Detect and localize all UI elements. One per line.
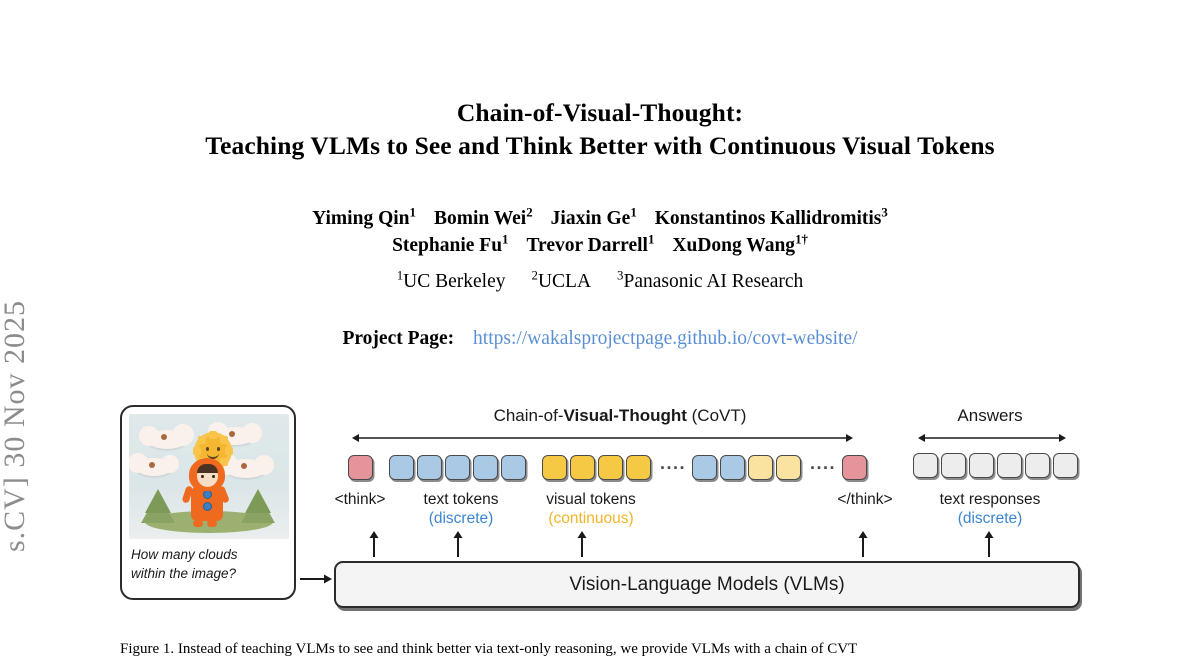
answer-token-sequence <box>913 453 1081 478</box>
text-tokens-label: text tokens <box>400 490 522 509</box>
author-name: Bomin Wei2 <box>434 208 533 229</box>
example-question-caption: How many clouds within the image? <box>129 545 287 583</box>
girl-shoe <box>193 520 203 527</box>
question-line-1: How many clouds <box>131 545 287 564</box>
up-arrow-icon <box>452 531 464 557</box>
token-ellipsis: .... <box>804 453 842 482</box>
text-responses-caption: text responses (discrete) <box>905 490 1075 528</box>
author-name: Stephanie Fu1 <box>392 235 508 256</box>
token-answer <box>997 453 1022 478</box>
pine-tree <box>245 489 271 513</box>
teaser-figure: How many clouds within the image? Vision… <box>0 398 1200 648</box>
example-image-card: How many clouds within the image? <box>120 405 296 600</box>
token-visual-light <box>776 455 801 480</box>
covt-token-sequence: ........ <box>348 453 870 482</box>
covt-span-arrow <box>352 432 853 444</box>
token-endthink <box>842 455 867 480</box>
covt-heading-bold: Visual-Thought <box>564 406 687 425</box>
author-name: Jiaxin Ge1 <box>551 208 637 229</box>
token-text <box>473 455 498 480</box>
author-name: Yiming Qin1 <box>312 208 416 229</box>
page-title: Chain-of-Visual-Thought: Teaching VLMs t… <box>0 0 1200 162</box>
project-page-label: Project Page: <box>342 328 454 349</box>
author-name: Konstantinos Kallidromitis3 <box>655 208 888 229</box>
token-text <box>445 455 470 480</box>
affiliation-marker: 1 <box>397 269 403 283</box>
token-visual <box>570 455 595 480</box>
up-arrow-icon <box>368 531 380 557</box>
girl-shoe <box>207 520 217 527</box>
girl-eye <box>212 475 215 478</box>
up-arrow-icon <box>983 531 995 557</box>
author-affiliation-marker: 3 <box>881 206 887 220</box>
project-page-row: Project Page: https://wakalsprojectpage.… <box>0 328 1200 350</box>
question-line-2: within the image? <box>131 564 287 583</box>
token-text <box>417 455 442 480</box>
author-affiliation-marker: 1 <box>502 233 508 247</box>
end-think-token-caption: </think> <box>810 490 920 509</box>
author-row-2: Stephanie Fu1Trevor Darrell1XuDong Wang1… <box>0 232 1200 259</box>
token-answer <box>913 453 938 478</box>
text-responses-sublabel: (discrete) <box>905 509 1075 528</box>
affiliation-marker: 2 <box>532 269 538 283</box>
token-visual <box>542 455 567 480</box>
answers-span-arrow <box>918 432 1066 444</box>
token-text <box>501 455 526 480</box>
token-text <box>692 455 717 480</box>
text-tokens-caption: text tokens (discrete) <box>400 490 522 528</box>
affiliation-entry: 1UC Berkeley <box>397 271 506 292</box>
token-answer <box>941 453 966 478</box>
coat-button <box>203 502 212 511</box>
up-arrow-icon <box>857 531 869 557</box>
coat-button <box>203 490 212 499</box>
cloud-center-dot <box>149 462 155 468</box>
covt-heading-suffix: (CoVT) <box>687 406 747 425</box>
think-token-caption: <think> <box>310 490 410 509</box>
affiliation-row: 1UC Berkeley2UCLA3Panasonic AI Research <box>0 268 1200 295</box>
cloud-shape <box>147 430 187 449</box>
answers-group-heading: Answers <box>905 406 1075 426</box>
covt-heading-prefix: Chain-of- <box>494 406 564 425</box>
token-visual-light <box>748 455 773 480</box>
affiliation-marker: 3 <box>617 269 623 283</box>
author-name: XuDong Wang1† <box>672 235 808 256</box>
author-row-1: Yiming Qin1Bomin Wei2Jiaxin Ge1Konstanti… <box>0 205 1200 232</box>
text-tokens-sublabel: (discrete) <box>400 509 522 528</box>
affiliation-entry: 2UCLA <box>532 271 592 292</box>
token-answer <box>969 453 994 478</box>
token-ellipsis: .... <box>654 453 692 482</box>
token-visual <box>626 455 651 480</box>
covt-group-heading: Chain-of-Visual-Thought (CoVT) <box>340 406 900 426</box>
paper-header: Chain-of-Visual-Thought: Teaching VLMs t… <box>0 0 1200 350</box>
title-line-1: Chain-of-Visual-Thought: <box>0 96 1200 129</box>
visual-tokens-sublabel: (continuous) <box>528 509 654 528</box>
cloud-center-dot <box>229 431 235 437</box>
cloud-shape <box>225 459 267 478</box>
token-visual <box>598 455 623 480</box>
token-answer <box>1025 453 1050 478</box>
author-affiliation-marker: 1 <box>630 206 636 220</box>
author-affiliation-marker: 1† <box>795 233 808 247</box>
token-text <box>389 455 414 480</box>
girl-hair <box>197 464 218 473</box>
girl-eye <box>201 475 204 478</box>
token-answer <box>1053 453 1078 478</box>
vlm-model-box: Vision-Language Models (VLMs) <box>334 561 1080 608</box>
project-page-link[interactable]: https://wakalsprojectpage.github.io/covt… <box>473 328 858 349</box>
author-block: Yiming Qin1Bomin Wei2Jiaxin Ge1Konstanti… <box>0 205 1200 295</box>
pine-tree <box>145 489 171 513</box>
text-responses-label: text responses <box>905 490 1075 509</box>
cloud-center-dot <box>241 463 247 469</box>
token-text <box>720 455 745 480</box>
input-arrow-icon <box>300 573 332 585</box>
visual-tokens-label: visual tokens <box>528 490 654 509</box>
cloud-center-dot <box>161 434 167 440</box>
visual-tokens-caption: visual tokens (continuous) <box>528 490 654 528</box>
token-think <box>348 455 373 480</box>
up-arrow-icon <box>576 531 588 557</box>
example-image-thumbnail <box>129 414 289 539</box>
figure-caption: Figure 1. Instead of teaching VLMs to se… <box>120 641 1080 658</box>
affiliation-entry: 3Panasonic AI Research <box>617 271 803 292</box>
author-affiliation-marker: 2 <box>526 206 532 220</box>
author-affiliation-marker: 1 <box>648 233 654 247</box>
author-affiliation-marker: 1 <box>410 206 416 220</box>
vlm-box-label: Vision-Language Models (VLMs) <box>569 574 844 596</box>
title-line-2: Teaching VLMs to See and Think Better wi… <box>0 129 1200 162</box>
author-name: Trevor Darrell1 <box>526 235 654 256</box>
